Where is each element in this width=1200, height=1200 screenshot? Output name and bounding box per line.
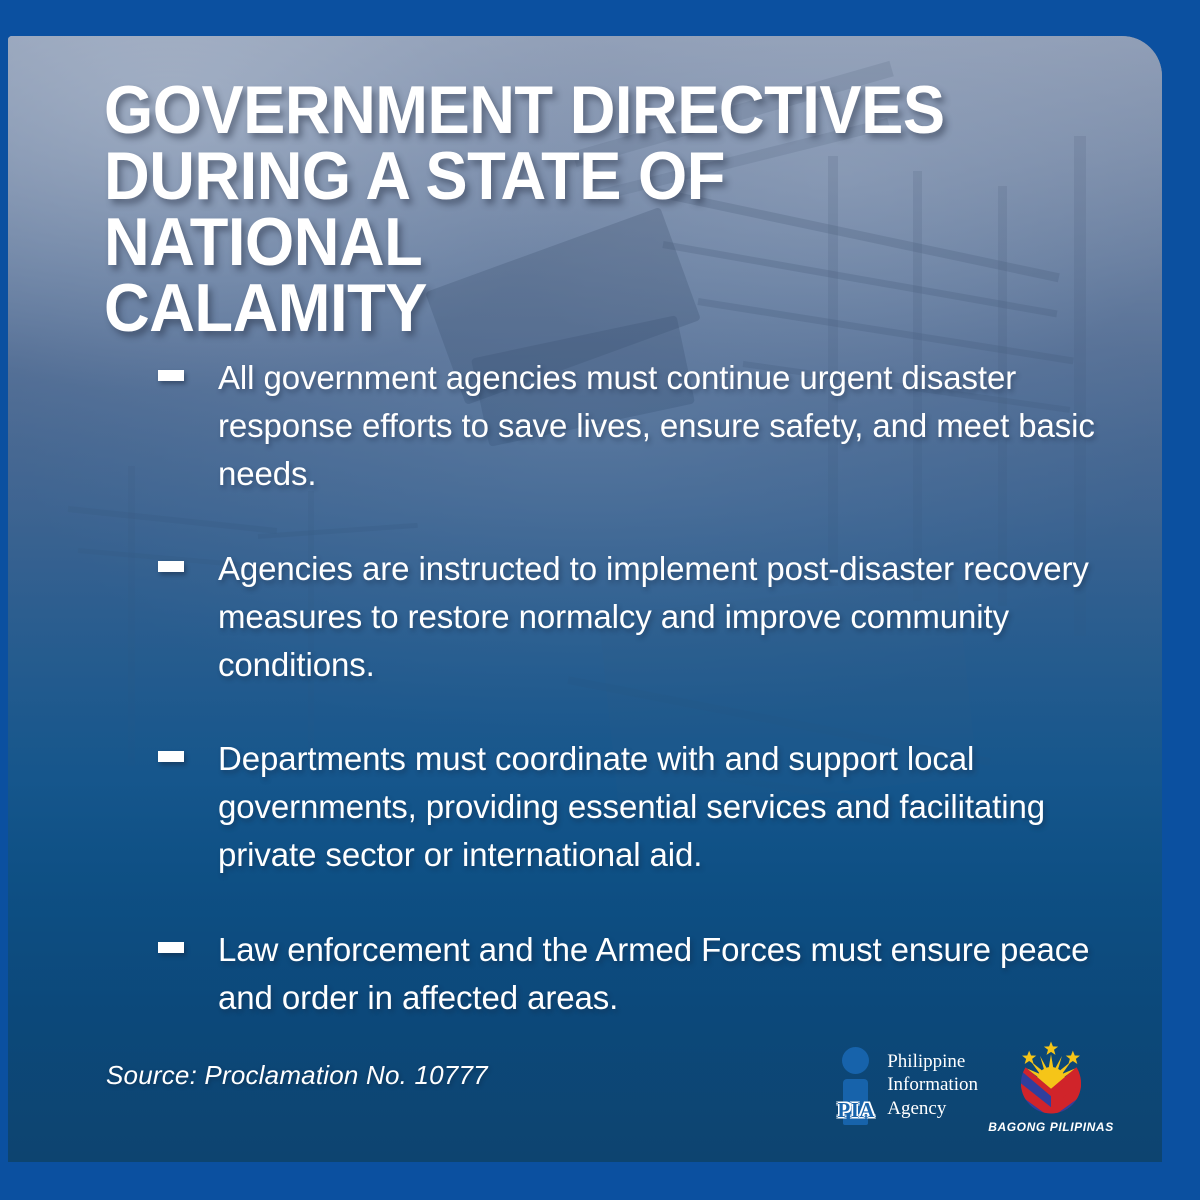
bullet-dash-icon <box>158 942 184 953</box>
page-title: GOVERNMENT DIRECTIVES DURING A STATE OF … <box>104 78 997 342</box>
logo-row: PIA Philippine Information Agency <box>834 1036 1106 1134</box>
list-item-text: All government agencies must continue ur… <box>218 354 1118 499</box>
pia-logo: PIA Philippine Information Agency <box>834 1045 978 1125</box>
pia-acronym: PIA <box>833 1098 879 1123</box>
infographic-poster: GOVERNMENT DIRECTIVES DURING A STATE OF … <box>0 0 1200 1200</box>
bagong-pilipinas-label: BAGONG PILIPINAS <box>988 1120 1114 1134</box>
source-attribution: Source: Proclamation No. 10777 <box>106 1060 488 1091</box>
bullet-dash-icon <box>158 370 184 381</box>
directives-list: All government agencies must continue ur… <box>158 354 1118 1022</box>
pia-figure-icon: PIA <box>834 1045 878 1125</box>
bagong-pilipinas-logo: BAGONG PILIPINAS <box>996 1036 1106 1134</box>
list-item: All government agencies must continue ur… <box>158 354 1118 499</box>
bullet-dash-icon <box>158 751 184 762</box>
list-item: Law enforcement and the Armed Forces mus… <box>158 926 1118 1022</box>
list-item: Departments must coordinate with and sup… <box>158 735 1118 880</box>
content-card: GOVERNMENT DIRECTIVES DURING A STATE OF … <box>8 36 1162 1162</box>
list-item-text: Departments must coordinate with and sup… <box>218 735 1118 880</box>
list-item-text: Law enforcement and the Armed Forces mus… <box>218 926 1118 1022</box>
bagong-pilipinas-emblem-icon <box>1005 1036 1097 1118</box>
list-item-text: Agencies are instructed to implement pos… <box>218 545 1118 690</box>
bullet-dash-icon <box>158 561 184 572</box>
poster-content: GOVERNMENT DIRECTIVES DURING A STATE OF … <box>8 36 1162 1162</box>
pia-head-shape <box>842 1047 869 1074</box>
list-item: Agencies are instructed to implement pos… <box>158 545 1118 690</box>
pia-agency-name: Philippine Information Agency <box>887 1050 978 1120</box>
